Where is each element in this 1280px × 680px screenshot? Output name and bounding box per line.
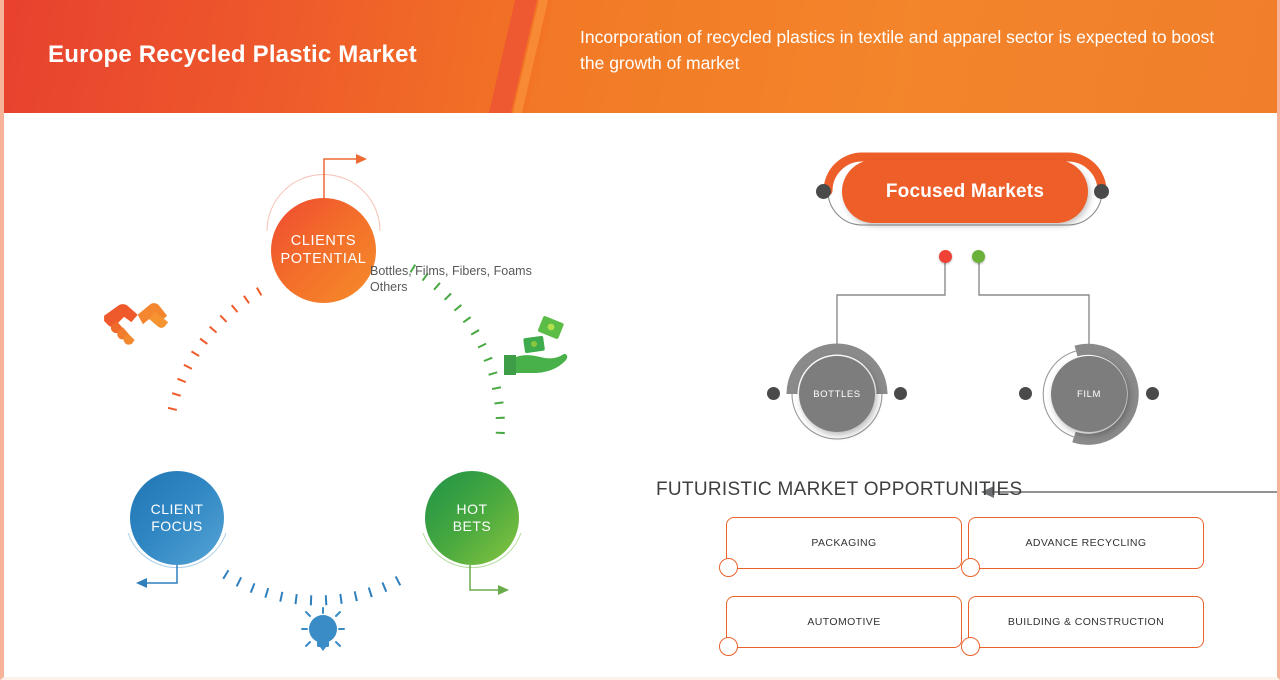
cycle-node-hot-bets[interactable]: HOT BETS bbox=[425, 471, 519, 565]
futuristic-section-title: FUTURISTIC MARKET OPPORTUNITIES bbox=[656, 479, 1022, 501]
handshake-icon bbox=[104, 303, 168, 345]
media-circle-label: BOTTLES bbox=[813, 389, 861, 400]
opportunity-marker-icon bbox=[719, 558, 738, 577]
media-circle-bottles[interactable]: BOTTLES bbox=[799, 356, 875, 432]
connector-bottles bbox=[837, 263, 945, 351]
opportunity-label: PACKAGING bbox=[811, 537, 876, 549]
opportunity-card-advance-recycling[interactable]: ADVANCE RECYCLING bbox=[968, 517, 1204, 569]
cycle-node-label: HOT BETS bbox=[453, 501, 492, 534]
branch-dot-green bbox=[972, 250, 985, 263]
bottles-left-dot bbox=[767, 387, 780, 400]
page-title: Europe Recycled Plastic Market bbox=[48, 41, 417, 69]
leader-arrow-focus bbox=[136, 578, 147, 588]
bottles-right-dot bbox=[894, 387, 907, 400]
money-hand-icon bbox=[504, 315, 567, 375]
infographic-page: Europe Recycled Plastic Market Incorpora… bbox=[0, 0, 1280, 680]
leader-arrow-clients bbox=[356, 154, 367, 164]
opportunity-marker-icon bbox=[961, 558, 980, 577]
cycle-node-client-focus[interactable]: CLIENT FOCUS bbox=[130, 471, 224, 565]
opportunity-label: AUTOMOTIVE bbox=[807, 616, 880, 628]
connector-film bbox=[979, 263, 1089, 351]
branch-dot-red bbox=[939, 250, 952, 263]
cycle-node-label: CLIENT FOCUS bbox=[151, 501, 204, 534]
cycle-node-label: CLIENTS POTENTIAL bbox=[281, 233, 367, 267]
film-left-dot bbox=[1019, 387, 1032, 400]
opportunity-grid: PACKAGING ADVANCE RECYCLING AUTOMOTIVE B… bbox=[726, 517, 1208, 648]
leader-arrow-hot bbox=[498, 585, 509, 595]
lightbulb-icon bbox=[302, 608, 344, 651]
film-right-dot bbox=[1146, 387, 1159, 400]
callout-clients-potential: Bottles, Films, Fibers, Foams Others bbox=[370, 263, 570, 295]
opportunity-label: BUILDING & CONSTRUCTION bbox=[1008, 616, 1164, 628]
focused-markets-left-dot bbox=[816, 184, 831, 199]
header-subtitle: Incorporation of recycled plastics in te… bbox=[580, 24, 1240, 76]
opportunity-marker-icon bbox=[961, 637, 980, 656]
focused-markets-right-dot bbox=[1094, 184, 1109, 199]
infographic-canvas: CLIENTS POTENTIAL CLIENT FOCUS HOT BETS … bbox=[4, 113, 1280, 680]
arc-orange bbox=[170, 291, 260, 421]
opportunity-card-packaging[interactable]: PACKAGING bbox=[726, 517, 962, 569]
opportunity-label: ADVANCE RECYCLING bbox=[1026, 537, 1147, 549]
media-circle-label: FILM bbox=[1077, 389, 1101, 400]
header-banner: Europe Recycled Plastic Market Incorpora… bbox=[4, 0, 1280, 113]
focused-markets-pill[interactable]: Focused Markets bbox=[842, 160, 1088, 223]
arc-blue bbox=[225, 574, 410, 600]
media-circle-film[interactable]: FILM bbox=[1051, 356, 1127, 432]
opportunity-card-automotive[interactable]: AUTOMOTIVE bbox=[726, 596, 962, 648]
opportunity-card-building-construction[interactable]: BUILDING & CONSTRUCTION bbox=[968, 596, 1204, 648]
opportunity-marker-icon bbox=[719, 637, 738, 656]
cycle-node-clients-potential[interactable]: CLIENTS POTENTIAL bbox=[271, 198, 376, 303]
focused-markets-label: Focused Markets bbox=[886, 181, 1044, 203]
